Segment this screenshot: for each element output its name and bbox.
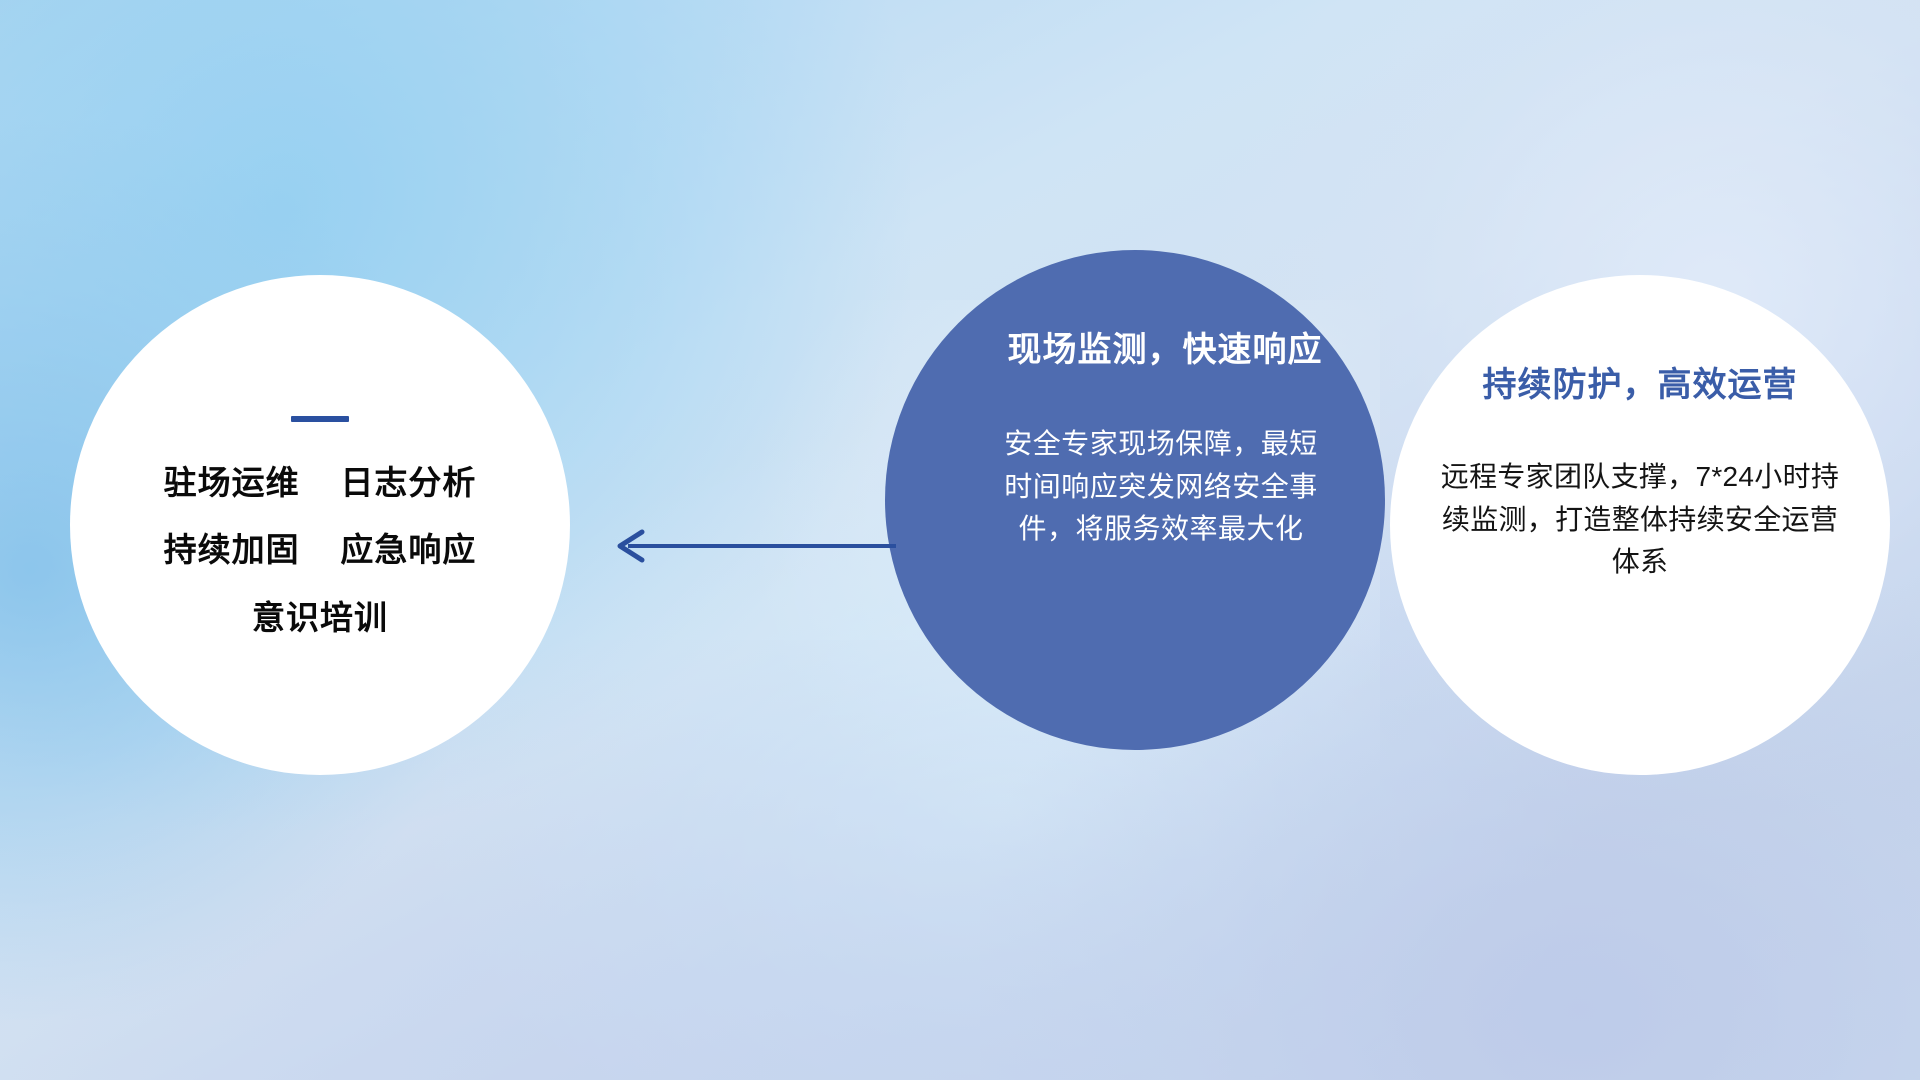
capability-line-1: 驻场运维 日志分析 — [164, 466, 477, 500]
onsite-monitoring-circle[interactable]: 现场监测，快速响应 安全专家现场保障，最短时间响应突发网络安全事件，将服务效率最… — [885, 250, 1385, 750]
continuous-protection-title: 持续防护，高效运营 — [1483, 357, 1798, 406]
continuous-protection-circle[interactable]: 持续防护，高效运营 远程专家团队支撑，7*24小时持续监测，打造整体持续安全运营… — [1390, 275, 1890, 775]
capability-line-2: 持续加固 应急响应 — [164, 533, 477, 567]
onsite-monitoring-body: 安全专家现场保障，最短时间响应突发网络安全事件，将服务效率最大化 — [996, 423, 1326, 551]
divider-dash-icon — [291, 416, 349, 422]
capability-line-3: 意识培训 — [164, 601, 477, 635]
capability-list: 驻场运维 日志分析 持续加固 应急响应 意识培训 — [164, 466, 477, 635]
onsite-monitoring-content: 现场监测，快速响应 安全专家现场保障，最短时间响应突发网络安全事件，将服务效率最… — [885, 250, 1385, 750]
capability-circle-left[interactable]: 驻场运维 日志分析 持续加固 应急响应 意识培训 — [70, 275, 570, 775]
continuous-protection-content: 持续防护，高效运营 远程专家团队支撑，7*24小时持续监测，打造整体持续安全运营… — [1390, 275, 1890, 775]
slide-canvas: 驻场运维 日志分析 持续加固 应急响应 意识培训 现场监测，快速响应 安全专家现… — [0, 0, 1920, 1080]
onsite-monitoring-title: 现场监测，快速响应 — [1008, 322, 1323, 371]
continuous-protection-body: 远程专家团队支撑，7*24小时持续监测，打造整体持续安全运营体系 — [1430, 456, 1850, 584]
flow-arrow-left-icon — [600, 525, 900, 567]
